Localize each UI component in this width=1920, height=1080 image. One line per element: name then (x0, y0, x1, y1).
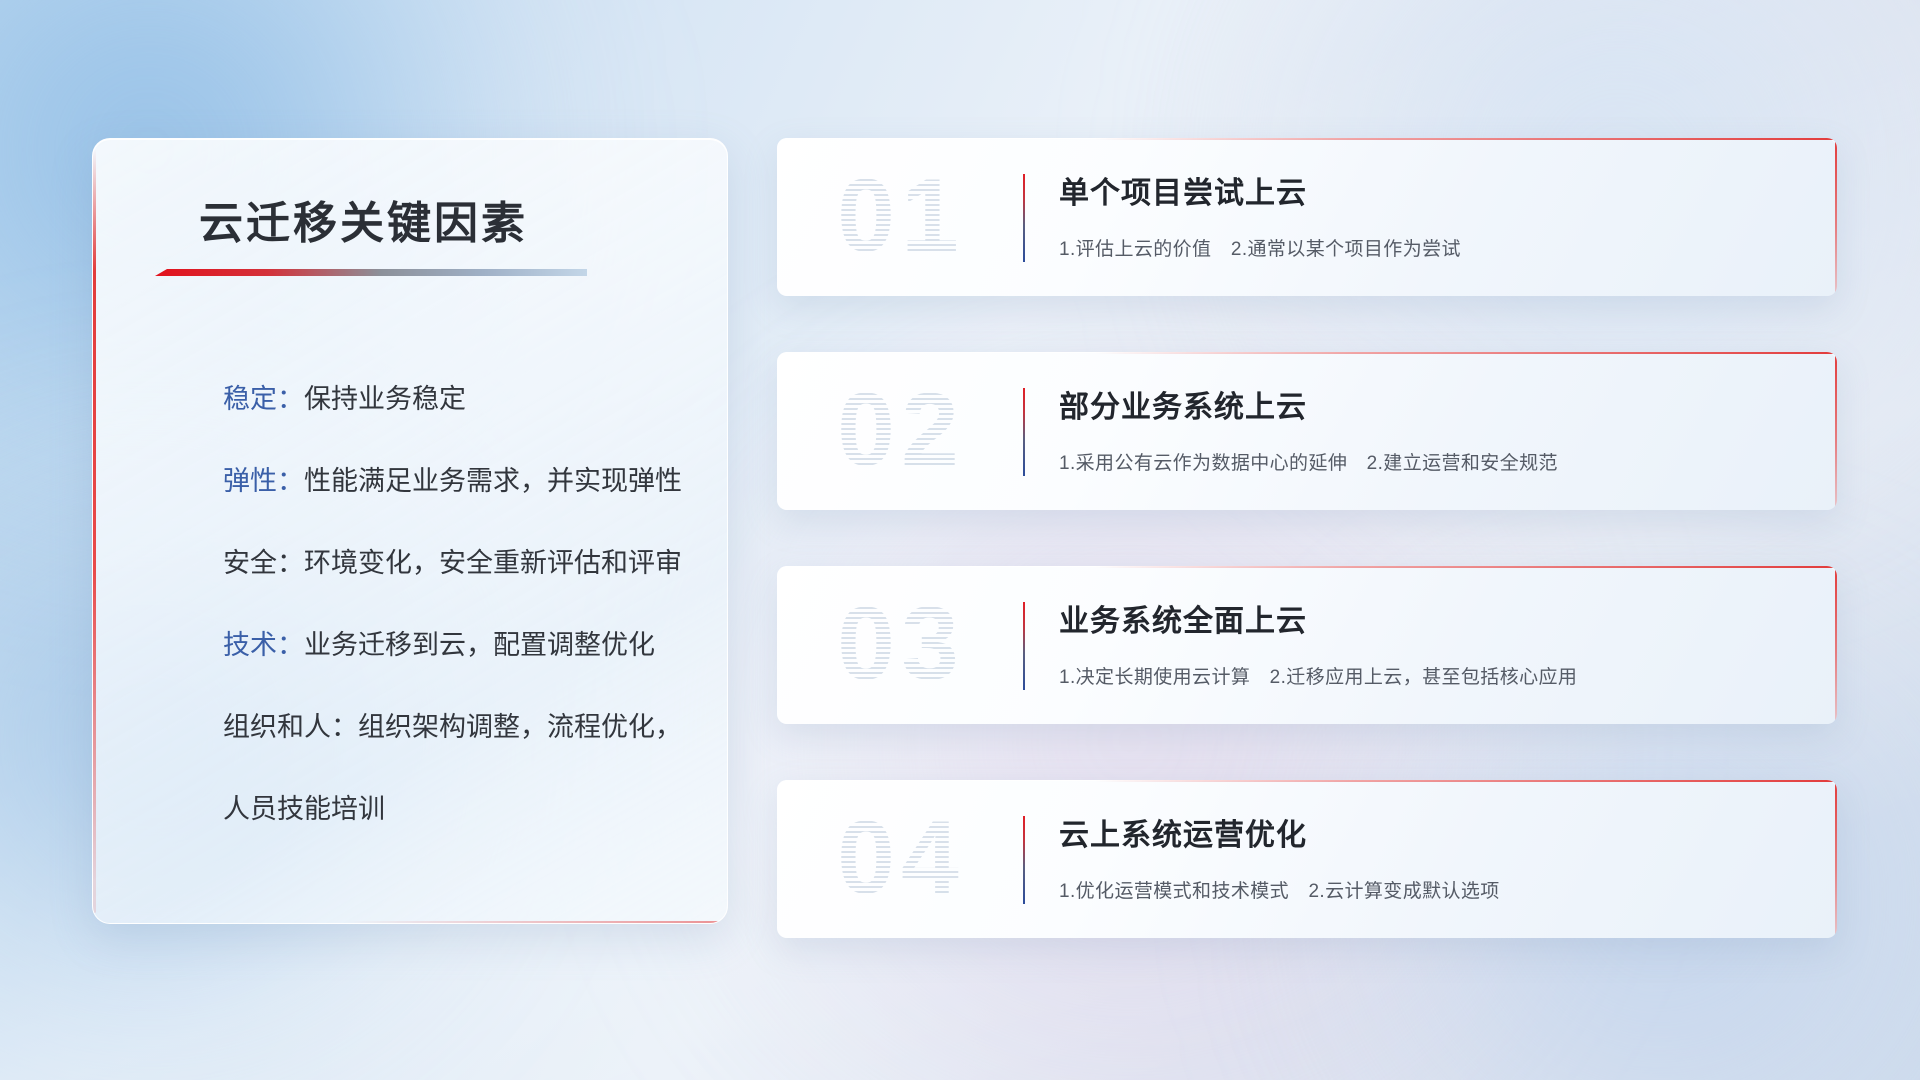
list-item-value: 环境变化，安全重新评估和评审 (304, 541, 682, 580)
card-divider-bar (1023, 816, 1025, 904)
stage-number-watermark: 04 (803, 796, 999, 920)
card-right-accent (1835, 138, 1837, 296)
migration-stage-cards: 01 单个项目尝试上云 1.评估上云的价值 2.通常以某个项目作为尝试 02 部… (777, 138, 1837, 938)
card-right-accent (1835, 780, 1837, 938)
card-title: 部分业务系统上云 (1059, 382, 1797, 426)
stage-card[interactable]: 03 业务系统全面上云 1.决定长期使用云计算 2.迁移应用上云，甚至包括核心应… (777, 566, 1837, 724)
stage-card[interactable]: 01 单个项目尝试上云 1.评估上云的价值 2.通常以某个项目作为尝试 (777, 138, 1837, 296)
card-body: 业务系统全面上云 1.决定长期使用云计算 2.迁移应用上云，甚至包括核心应用 (1059, 596, 1797, 689)
card-title: 云上系统运营优化 (1059, 810, 1797, 854)
card-body: 部分业务系统上云 1.采用公有云作为数据中心的延伸 2.建立运营和安全规范 (1059, 382, 1797, 475)
list-item-label: 稳定： (223, 377, 304, 416)
list-item-value: 组织架构调整，流程优化， (358, 705, 682, 744)
list-item: 人员技能培训 (223, 787, 697, 826)
card-divider-bar (1023, 602, 1025, 690)
list-item-label: 组织和人： (223, 705, 358, 744)
card-divider-bar (1023, 174, 1025, 262)
list-item: 稳定： 保持业务稳定 (223, 377, 697, 416)
card-right-accent (1835, 352, 1837, 510)
card-title: 单个项目尝试上云 (1059, 168, 1797, 212)
list-item: 技术： 业务迁移到云，配置调整优化 (223, 623, 697, 662)
card-body: 云上系统运营优化 1.优化运营模式和技术模式 2.云计算变成默认选项 (1059, 810, 1797, 903)
key-factors-panel: 云迁移关键因素 稳定： 保持业务稳定 弹性： 性能满足业务需求，并实现弹 (92, 138, 728, 924)
card-top-accent (1095, 352, 1837, 354)
title-underline-rule (155, 269, 587, 280)
list-item-value: 保持业务稳定 (304, 377, 466, 416)
card-top-accent (1095, 138, 1837, 140)
list-item-value: 业务迁移到云，配置调整优化 (304, 623, 655, 662)
card-description: 1.决定长期使用云计算 2.迁移应用上云，甚至包括核心应用 (1059, 662, 1797, 689)
card-top-accent (1095, 566, 1837, 568)
slide-content: 云迁移关键因素 稳定： 保持业务稳定 弹性： 性能满足业务需求，并实现弹 (0, 0, 1920, 1080)
list-item-value: 人员技能培训 (223, 787, 385, 826)
list-item-value: 性能满足业务需求，并实现弹性 (304, 459, 682, 498)
stage-number-watermark: 02 (803, 368, 999, 492)
list-item-label: 技术： (223, 623, 304, 662)
stage-card[interactable]: 04 云上系统运营优化 1.优化运营模式和技术模式 2.云计算变成默认选项 (777, 780, 1837, 938)
list-item-label: 弹性： (223, 459, 304, 498)
panel-title: 云迁移关键因素 (199, 187, 528, 251)
card-right-accent (1835, 566, 1837, 724)
card-description: 1.采用公有云作为数据中心的延伸 2.建立运营和安全规范 (1059, 448, 1797, 475)
stage-card[interactable]: 02 部分业务系统上云 1.采用公有云作为数据中心的延伸 2.建立运营和安全规范 (777, 352, 1837, 510)
card-divider-bar (1023, 388, 1025, 476)
card-top-accent (1095, 780, 1837, 782)
list-item: 组织和人： 组织架构调整，流程优化， (223, 705, 697, 744)
card-body: 单个项目尝试上云 1.评估上云的价值 2.通常以某个项目作为尝试 (1059, 168, 1797, 261)
list-item-label: 安全： (223, 541, 304, 580)
card-title: 业务系统全面上云 (1059, 596, 1797, 640)
card-description: 1.优化运营模式和技术模式 2.云计算变成默认选项 (1059, 876, 1797, 903)
key-factors-list: 稳定： 保持业务稳定 弹性： 性能满足业务需求，并实现弹性 安全： 环境变化，安… (223, 377, 697, 826)
stage-number-watermark: 03 (803, 582, 999, 706)
stage-number-watermark: 01 (803, 154, 999, 278)
list-item: 弹性： 性能满足业务需求，并实现弹性 (223, 459, 697, 498)
card-description: 1.评估上云的价值 2.通常以某个项目作为尝试 (1059, 234, 1797, 261)
list-item: 安全： 环境变化，安全重新评估和评审 (223, 541, 697, 580)
